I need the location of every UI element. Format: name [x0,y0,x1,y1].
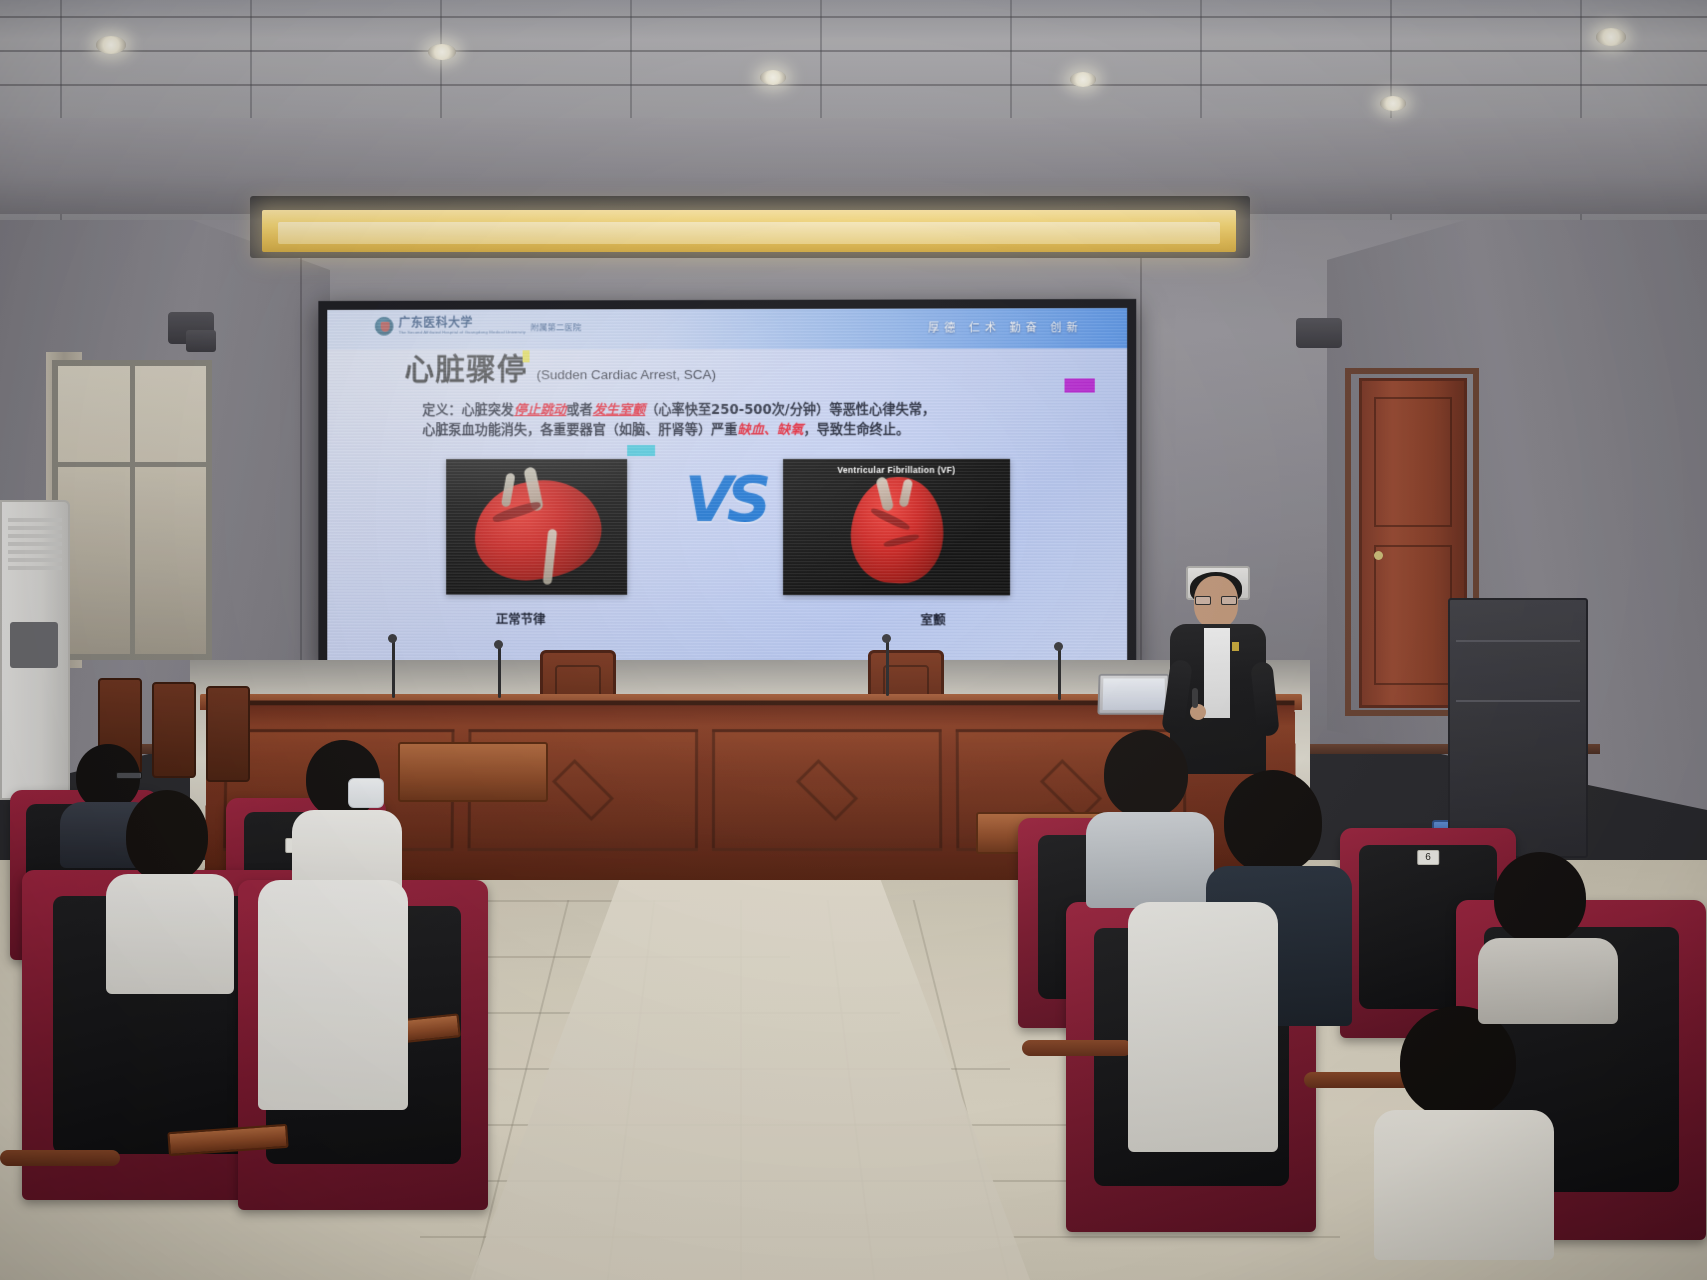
equipment-cabinet [1448,598,1588,858]
hospital-logo-icon [375,317,394,336]
downlight-icon [1380,96,1406,111]
presenter-badge [1232,642,1239,651]
lecture-hall-scene: 广东医科大学 The Second Affiliated Hospital of… [0,0,1707,1280]
hospital-name-en: The Second Affiliated Hospital of Guangd… [399,331,526,335]
audience-person [292,740,402,900]
presenter-shirt [1204,628,1230,718]
slide-body-text: 定义：心脏突发停止跳动或者发生室颤（心率快至250-500次/分钟）等恶性心律失… [422,401,1082,441]
slide-title-en: (Sudden Cardiac Arrest, SCA) [537,367,717,385]
handheld-microphone[interactable] [1192,688,1198,708]
seat-number-badge: 6 [1417,850,1439,865]
door-knob-icon[interactable] [1374,551,1383,560]
audience-person [1086,730,1214,900]
definition-highlight-stop: 停止跳动 [514,403,566,418]
normal-heart-image [446,459,627,595]
wall-seam [300,200,302,700]
hospital-motto: 厚德 仁术 勤奋 创新 [928,319,1083,335]
podium-microphone[interactable] [392,640,395,698]
slide-image-row: VS Ventricular Fibrillation (VF) [327,459,1127,604]
wall-seam [1140,200,1142,720]
podium-microphone[interactable] [886,640,889,696]
face-mask-icon [348,778,384,808]
wall-speaker [186,330,216,352]
audience-person [106,790,234,990]
microphone-head-icon [882,634,891,643]
wall-projector [1296,318,1342,348]
slide-purple-marker [1065,378,1095,392]
slide-title-cn: 心脏骤停 [404,355,527,385]
ceiling-light-bar-inner [278,222,1220,244]
audience-person [1478,852,1618,1012]
definition-line2-suffix: ，导致生命终止。 [804,423,910,438]
definition-mid: 或者 [566,403,592,418]
cabinet-panel-line [1456,640,1580,642]
downlight-icon [760,70,786,85]
window [52,360,212,660]
cabinet-panel-line [1456,700,1580,702]
presentation-slide: 广东医科大学 The Second Affiliated Hospital of… [327,308,1127,664]
caption-normal-rhythm: 正常节律 [496,609,546,628]
audience-person [1374,1006,1554,1256]
vf-image-label: Ventricular Fibrillation (VF) [783,465,1010,475]
slide-title: 心脏骤停 (Sudden Cardiac Arrest, SCA) [404,355,716,385]
projection-screen[interactable]: 广东医科大学 The Second Affiliated Hospital of… [318,299,1136,673]
ceiling-grid-line [0,16,1707,18]
definition-suffix: （心率快至250-500次/分钟）等恶性心律失常， [645,403,935,418]
podium-microphone[interactable] [498,646,501,698]
definition-highlight-ischemia: 缺血、缺氧 [737,423,803,438]
podium-diamond-motif [796,759,858,821]
definition-line2: 心脏泵血功能消失，各重要器官（如脑、肝肾等）严重缺血、缺氧，导致生命终止。 [422,421,1082,441]
podium-diamond-motif [552,759,614,821]
definition-highlight-vf: 发生室颤 [593,403,646,418]
audience-person [1128,902,1278,1152]
hospital-name-cn: 广东医科大学 [399,317,526,329]
definition-line2-prefix: 心脏泵血功能消失，各重要器官（如脑、肝肾等）严重 [422,423,737,438]
definition-prefix: 定义：心脏突发 [422,403,514,418]
hospital-branch-label: 附属第二医院 [530,321,581,333]
microphone-head-icon [1054,642,1063,651]
versus-label: VS [685,469,766,531]
microphone-head-icon [388,634,397,643]
slide-cyan-marker [627,445,655,456]
glasses-icon [1195,596,1237,605]
heart-illustration-icon [848,474,948,586]
ceiling-grid-line [0,50,1707,52]
downlight-icon [1070,72,1096,87]
folding-desk[interactable] [398,742,548,802]
downlight-icon [1596,28,1626,46]
downlight-icon [96,36,126,54]
downlight-icon [428,44,456,60]
eyeglasses-icon [116,772,142,779]
podium-microphone[interactable] [1058,648,1061,700]
laptop-screen [1103,678,1166,710]
microphone-head-icon [494,640,503,649]
seat-armrest [0,1150,120,1166]
wooden-chair[interactable] [206,686,250,782]
caption-ventricular-fibrillation: 室颤 [920,609,945,628]
ceiling-grid-line [0,84,1707,86]
ac-display-icon [10,622,58,668]
vf-heart-image: Ventricular Fibrillation (VF) [783,459,1010,596]
podium-panel [712,729,942,851]
wooden-chair[interactable] [152,682,196,778]
audience-person [258,880,408,1110]
seat-armrest [1022,1040,1132,1056]
hospital-logo: 广东医科大学 The Second Affiliated Hospital of… [375,316,582,335]
